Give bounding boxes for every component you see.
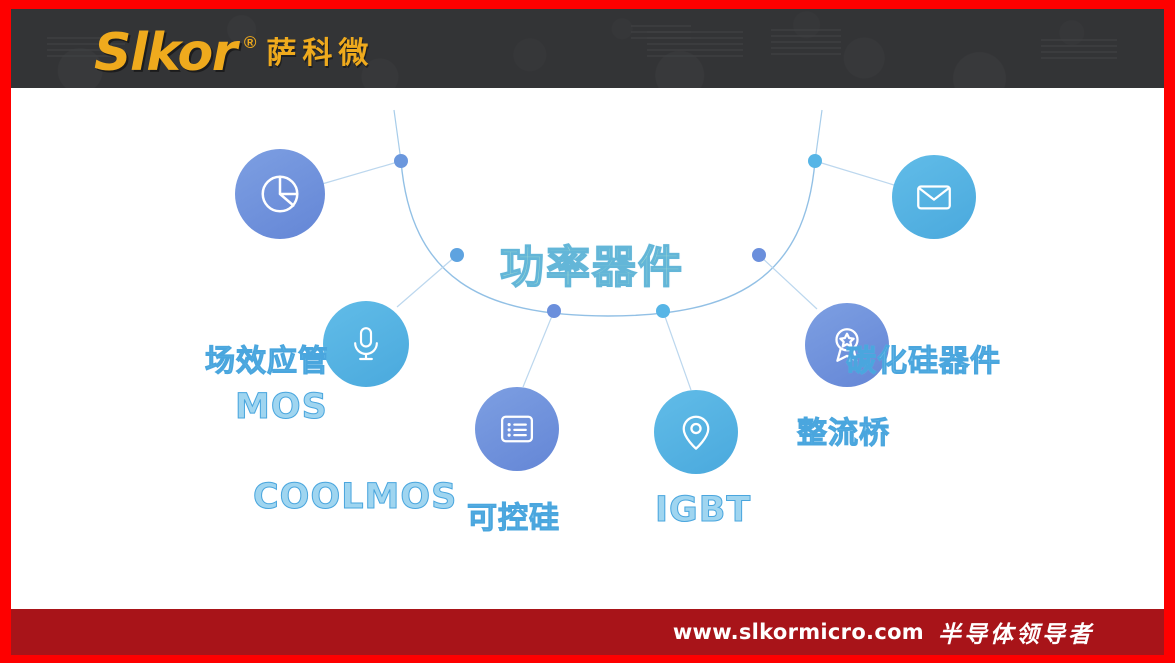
spoke-line (815, 161, 894, 185)
pie-chart-icon (257, 171, 303, 217)
footer-website-url[interactable]: www.slkormicro.com (673, 620, 924, 644)
node-sic-device[interactable] (892, 155, 976, 239)
label-sic-device: 碳化硅器件 (846, 336, 1001, 380)
arc-node-dot[interactable] (752, 248, 766, 262)
list-icon (496, 408, 538, 450)
node-thyristor[interactable] (475, 387, 559, 471)
diagram-stage: 功率器件 (11, 88, 1164, 609)
label-mos: MOS (235, 387, 328, 427)
spoke-line (394, 110, 401, 161)
node-mos-coolmos[interactable] (323, 301, 409, 387)
registered-trademark-icon: ® (244, 33, 257, 53)
label-coolmos: COOLMOS (253, 477, 457, 517)
microphone-icon (346, 324, 386, 364)
header-line-decor (1041, 39, 1117, 63)
header-line-decor (771, 29, 841, 55)
spoke-line (523, 311, 554, 387)
arc-node-dot[interactable] (808, 154, 822, 168)
slide-content: Slkor ® 萨科微 (11, 9, 1164, 655)
node-mosfet[interactable] (235, 149, 325, 239)
spoke-line (397, 255, 457, 307)
node-igbt[interactable] (654, 390, 738, 474)
location-pin-icon (675, 411, 717, 453)
logo-chinese-name: 萨科微 (266, 27, 374, 81)
label-igbt: IGBT (655, 490, 751, 530)
arc-node-dot[interactable] (547, 304, 561, 318)
arc-node-dot[interactable] (450, 248, 464, 262)
logo-wordmark: Slkor (94, 27, 236, 79)
spoke-line (663, 311, 691, 390)
spoke-line (815, 110, 822, 161)
label-thyristor: 可控硅 (467, 493, 560, 537)
arc-node-dot[interactable] (394, 154, 408, 168)
page-title: 功率器件 (500, 231, 684, 295)
label-mosfet: 场效应管 (205, 336, 329, 380)
arc-node-dot[interactable] (656, 304, 670, 318)
red-border-frame: Slkor ® 萨科微 (0, 0, 1175, 663)
footer-slogan: 半导体领导者 (938, 615, 1094, 649)
spoke-line (759, 255, 817, 309)
label-rectifier-bridge: 整流桥 (797, 408, 890, 452)
header-line-decor (647, 31, 743, 61)
spoke-line (322, 161, 401, 184)
header-bar: Slkor ® 萨科微 (11, 9, 1164, 88)
footer-bar: www.slkormicro.com 半导体领导者 (11, 609, 1164, 655)
slkor-logo[interactable]: Slkor ® 萨科微 (94, 27, 374, 81)
envelope-icon (913, 176, 955, 218)
